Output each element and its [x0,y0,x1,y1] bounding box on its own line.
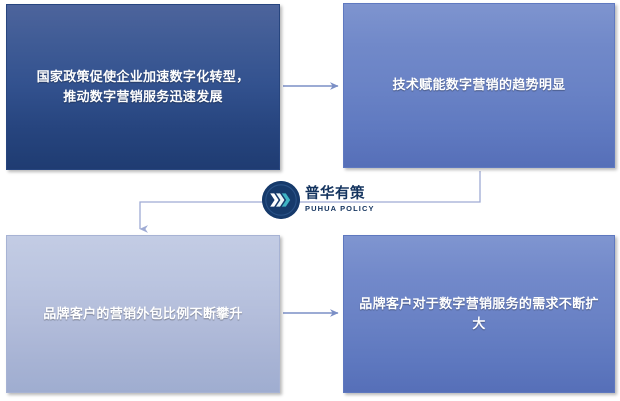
logo-name-cn: 普华有策 [305,187,375,202]
node-outsourcing[interactable]: 品牌客户的营销外包比例不断攀升 [6,235,280,393]
node-tech-label: 技术赋能数字营销的趋势明显 [358,75,600,95]
puhua-policy-logo: 普华有策 PUHUA POLICY [262,180,380,220]
node-policy[interactable]: 国家政策促使企业加速数字化转型， 推动数字营销服务迅速发展 [6,4,280,170]
logo-name-en: PUHUA POLICY [305,205,375,213]
node-demand[interactable]: 品牌客户对于数字营销服务的需求不断扩大 [343,235,615,393]
node-policy-label: 国家政策促使企业加速数字化转型， 推动数字营销服务迅速发展 [21,67,265,107]
node-outsourcing-label: 品牌客户的营销外包比例不断攀升 [21,304,265,324]
node-demand-label: 品牌客户对于数字营销服务的需求不断扩大 [358,294,600,334]
node-tech[interactable]: 技术赋能数字营销的趋势明显 [343,3,615,168]
logo-wordmark: 普华有策 PUHUA POLICY [305,187,375,213]
flow-diagram: 国家政策促使企业加速数字化转型， 推动数字营销服务迅速发展 技术赋能数字营销的趋… [0,0,620,401]
logo-waves-icon [262,181,300,219]
